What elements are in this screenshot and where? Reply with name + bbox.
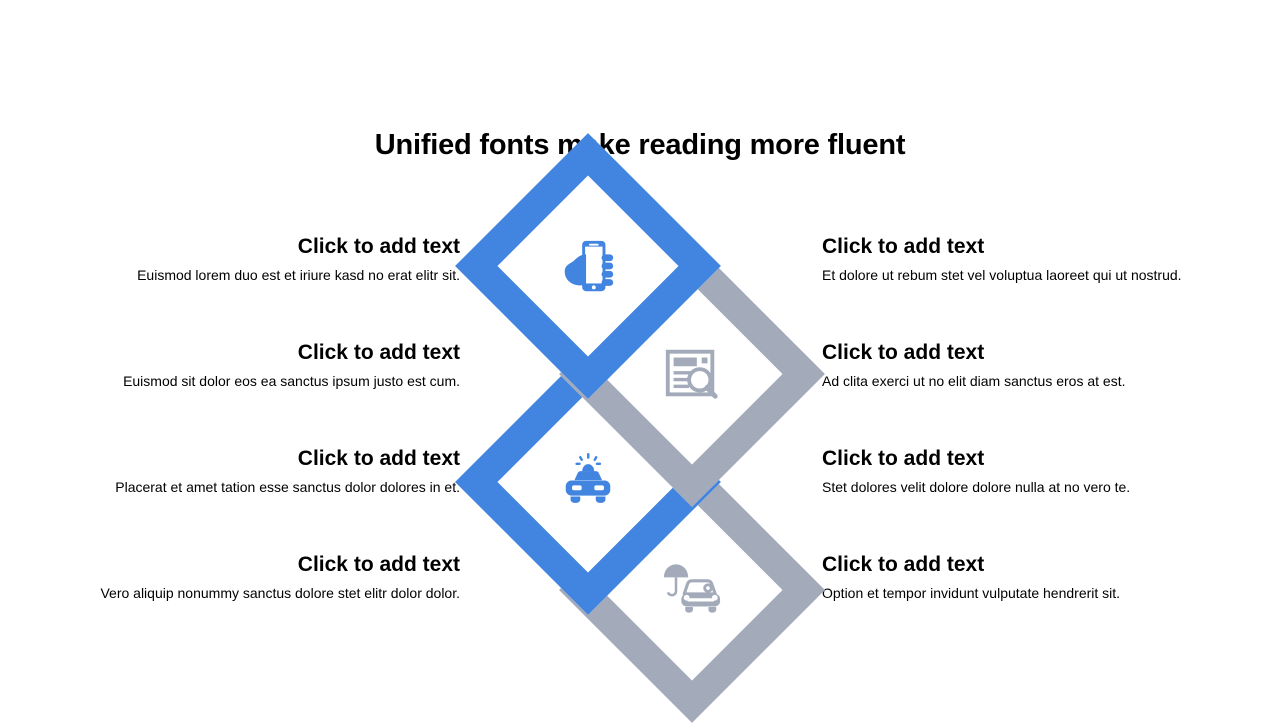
hand-holding-smartphone-icon: [557, 235, 619, 297]
text-block-heading[interactable]: Click to add text: [822, 233, 1212, 260]
text-block-body[interactable]: Stet dolores velit dolore dolore nulla a…: [822, 478, 1212, 497]
diamond-stack: [478, 170, 802, 660]
text-block-right-3[interactable]: Click to add text Stet dolores velit dol…: [822, 445, 1212, 497]
text-block-left-4[interactable]: Click to add text Vero aliquip nonummy s…: [70, 551, 460, 603]
page-title[interactable]: Unified fonts make reading more fluent: [0, 126, 1280, 164]
document-search-icon: [661, 343, 723, 405]
text-block-body[interactable]: Euismod lorem duo est et iriure kasd no …: [70, 266, 460, 285]
police-car-icon: [557, 451, 619, 513]
slide-canvas: Unified fonts make reading more fluent C…: [0, 0, 1280, 720]
text-block-heading[interactable]: Click to add text: [70, 445, 460, 472]
text-block-body[interactable]: Placerat et amet tation esse sanctus dol…: [70, 478, 460, 497]
text-block-heading[interactable]: Click to add text: [70, 551, 460, 578]
text-block-body[interactable]: Ad clita exerci ut no elit diam sanctus …: [822, 372, 1212, 391]
text-block-heading[interactable]: Click to add text: [70, 233, 460, 260]
text-block-left-2[interactable]: Click to add text Euismod sit dolor eos …: [70, 339, 460, 391]
text-block-right-4[interactable]: Click to add text Option et tempor invid…: [822, 551, 1212, 603]
text-block-body[interactable]: Option et tempor invidunt vulputate hend…: [822, 584, 1212, 603]
text-block-body[interactable]: Et dolore ut rebum stet vel voluptua lao…: [822, 266, 1212, 285]
text-block-heading[interactable]: Click to add text: [822, 551, 1212, 578]
text-block-heading[interactable]: Click to add text: [70, 339, 460, 366]
text-block-body[interactable]: Vero aliquip nonummy sanctus dolore stet…: [70, 584, 460, 603]
text-block-left-1[interactable]: Click to add text Euismod lorem duo est …: [70, 233, 460, 285]
text-block-right-1[interactable]: Click to add text Et dolore ut rebum ste…: [822, 233, 1212, 285]
text-block-left-3[interactable]: Click to add text Placerat et amet tatio…: [70, 445, 460, 497]
text-block-heading[interactable]: Click to add text: [822, 339, 1212, 366]
car-umbrella-insurance-icon: [661, 559, 723, 621]
text-block-right-2[interactable]: Click to add text Ad clita exerci ut no …: [822, 339, 1212, 391]
text-block-heading[interactable]: Click to add text: [822, 445, 1212, 472]
text-block-body[interactable]: Euismod sit dolor eos ea sanctus ipsum j…: [70, 372, 460, 391]
